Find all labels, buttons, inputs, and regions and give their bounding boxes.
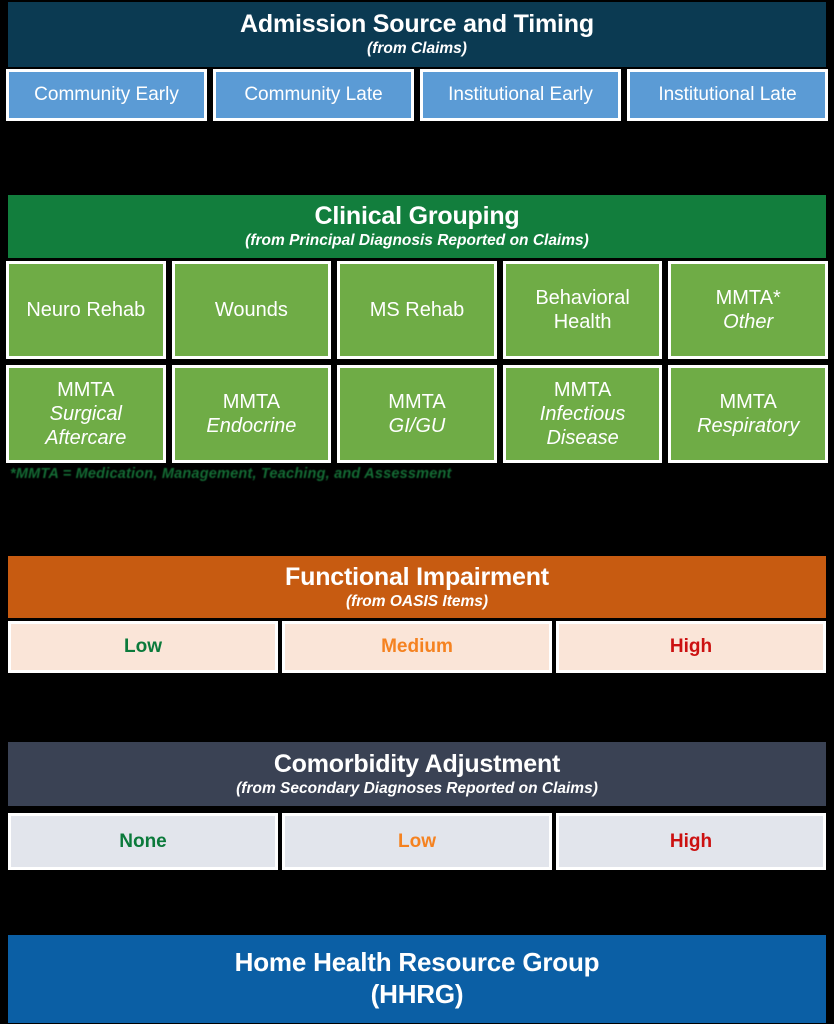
clinical-group-line: Disease <box>546 426 618 450</box>
clinical-group-mmta-surgical-aftercare[interactable]: MMTASurgicalAftercare <box>6 365 166 463</box>
comorbidity-adjustment-title: Comorbidity Adjustment <box>274 751 560 778</box>
admission-option-community-early[interactable]: Community Early <box>6 69 207 121</box>
hhrg-acronym: (HHRG) <box>371 979 464 1011</box>
option-label: Community Late <box>244 84 382 106</box>
level-label: Medium <box>381 636 453 658</box>
clinical-group-line: GI/GU <box>389 414 446 438</box>
clinical-group-mmta-infectious-disease[interactable]: MMTAInfectiousDisease <box>503 365 663 463</box>
admission-option-community-late[interactable]: Community Late <box>213 69 414 121</box>
level-label: Low <box>124 636 162 658</box>
clinical-group-line: MMTA <box>719 390 776 414</box>
clinical-group-line: Endocrine <box>206 414 296 438</box>
clinical-group-line: MS Rehab <box>370 298 465 322</box>
option-label: Community Early <box>34 84 179 106</box>
hhrg-title: Home Health Resource Group <box>235 947 600 979</box>
clinical-group-line: Surgical <box>50 402 122 426</box>
clinical-group-line: Respiratory <box>697 414 799 438</box>
admission-source-header: Admission Source and Timing (from Claims… <box>8 2 826 67</box>
functional-impairment-header: Functional Impairment (from OASIS Items) <box>8 556 826 618</box>
level-label: Low <box>398 831 436 853</box>
admission-option-institutional-late[interactable]: Institutional Late <box>627 69 828 121</box>
clinical-group-line: MMTA <box>388 390 445 414</box>
clinical-group-mmta-other[interactable]: MMTA*Other <box>668 261 828 359</box>
option-label: Institutional Early <box>448 84 593 106</box>
clinical-group-behavioral-health[interactable]: BehavioralHealth <box>503 261 663 359</box>
clinical-group-neuro-rehab[interactable]: Neuro Rehab <box>6 261 166 359</box>
clinical-group-line: MMTA* <box>716 286 781 310</box>
functional-level-medium[interactable]: Medium <box>282 621 552 673</box>
clinical-group-mmta-endocrine[interactable]: MMTAEndocrine <box>172 365 332 463</box>
clinical-group-line: MMTA <box>554 378 611 402</box>
comorbidity-adjustment-subtitle: (from Secondary Diagnoses Reported on Cl… <box>236 780 598 798</box>
admission-source-subtitle: (from Claims) <box>367 40 467 58</box>
option-label: Institutional Late <box>658 84 796 106</box>
clinical-group-ms-rehab[interactable]: MS Rehab <box>337 261 497 359</box>
functional-level-low[interactable]: Low <box>8 621 278 673</box>
admission-option-institutional-early[interactable]: Institutional Early <box>420 69 621 121</box>
level-label: High <box>670 831 712 853</box>
clinical-group-line: MMTA <box>57 378 114 402</box>
functional-level-high[interactable]: High <box>556 621 826 673</box>
clinical-grouping-subtitle: (from Principal Diagnosis Reported on Cl… <box>245 232 589 250</box>
admission-source-options: Community Early Community Late Instituti… <box>6 69 828 121</box>
clinical-group-line: Wounds <box>215 298 288 322</box>
clinical-group-line: Aftercare <box>45 426 126 450</box>
clinical-group-line: Infectious <box>540 402 626 426</box>
functional-impairment-subtitle: (from OASIS Items) <box>346 593 488 611</box>
pdgm-diagram: Admission Source and Timing (from Claims… <box>0 0 834 1024</box>
functional-impairment-levels: Low Medium High <box>8 621 826 673</box>
comorbidity-adjustment-header: Comorbidity Adjustment (from Secondary D… <box>8 742 826 806</box>
hhrg-result-banner: Home Health Resource Group (HHRG) <box>8 935 826 1023</box>
functional-impairment-title: Functional Impairment <box>285 564 549 591</box>
clinical-group-line: Health <box>554 310 612 334</box>
clinical-grouping-title: Clinical Grouping <box>315 203 520 230</box>
clinical-group-line: Behavioral <box>535 286 630 310</box>
comorbidity-adjustment-levels: None Low High <box>8 813 826 870</box>
mmta-footnote: *MMTA = Medication, Management, Teaching… <box>10 466 452 482</box>
clinical-group-line: Other <box>723 310 773 334</box>
clinical-group-wounds[interactable]: Wounds <box>172 261 332 359</box>
admission-source-title: Admission Source and Timing <box>240 11 594 38</box>
comorbidity-level-none[interactable]: None <box>8 813 278 870</box>
clinical-group-line: Neuro Rehab <box>26 298 145 322</box>
level-label: High <box>670 636 712 658</box>
clinical-grouping-options: Neuro RehabWoundsMS RehabBehavioralHealt… <box>6 261 828 463</box>
clinical-grouping-header: Clinical Grouping (from Principal Diagno… <box>8 195 826 258</box>
clinical-group-mmta-gi-gu[interactable]: MMTAGI/GU <box>337 365 497 463</box>
level-label: None <box>119 831 167 853</box>
comorbidity-level-low[interactable]: Low <box>282 813 552 870</box>
clinical-group-mmta-respiratory[interactable]: MMTARespiratory <box>668 365 828 463</box>
comorbidity-level-high[interactable]: High <box>556 813 826 870</box>
clinical-group-line: MMTA <box>223 390 280 414</box>
